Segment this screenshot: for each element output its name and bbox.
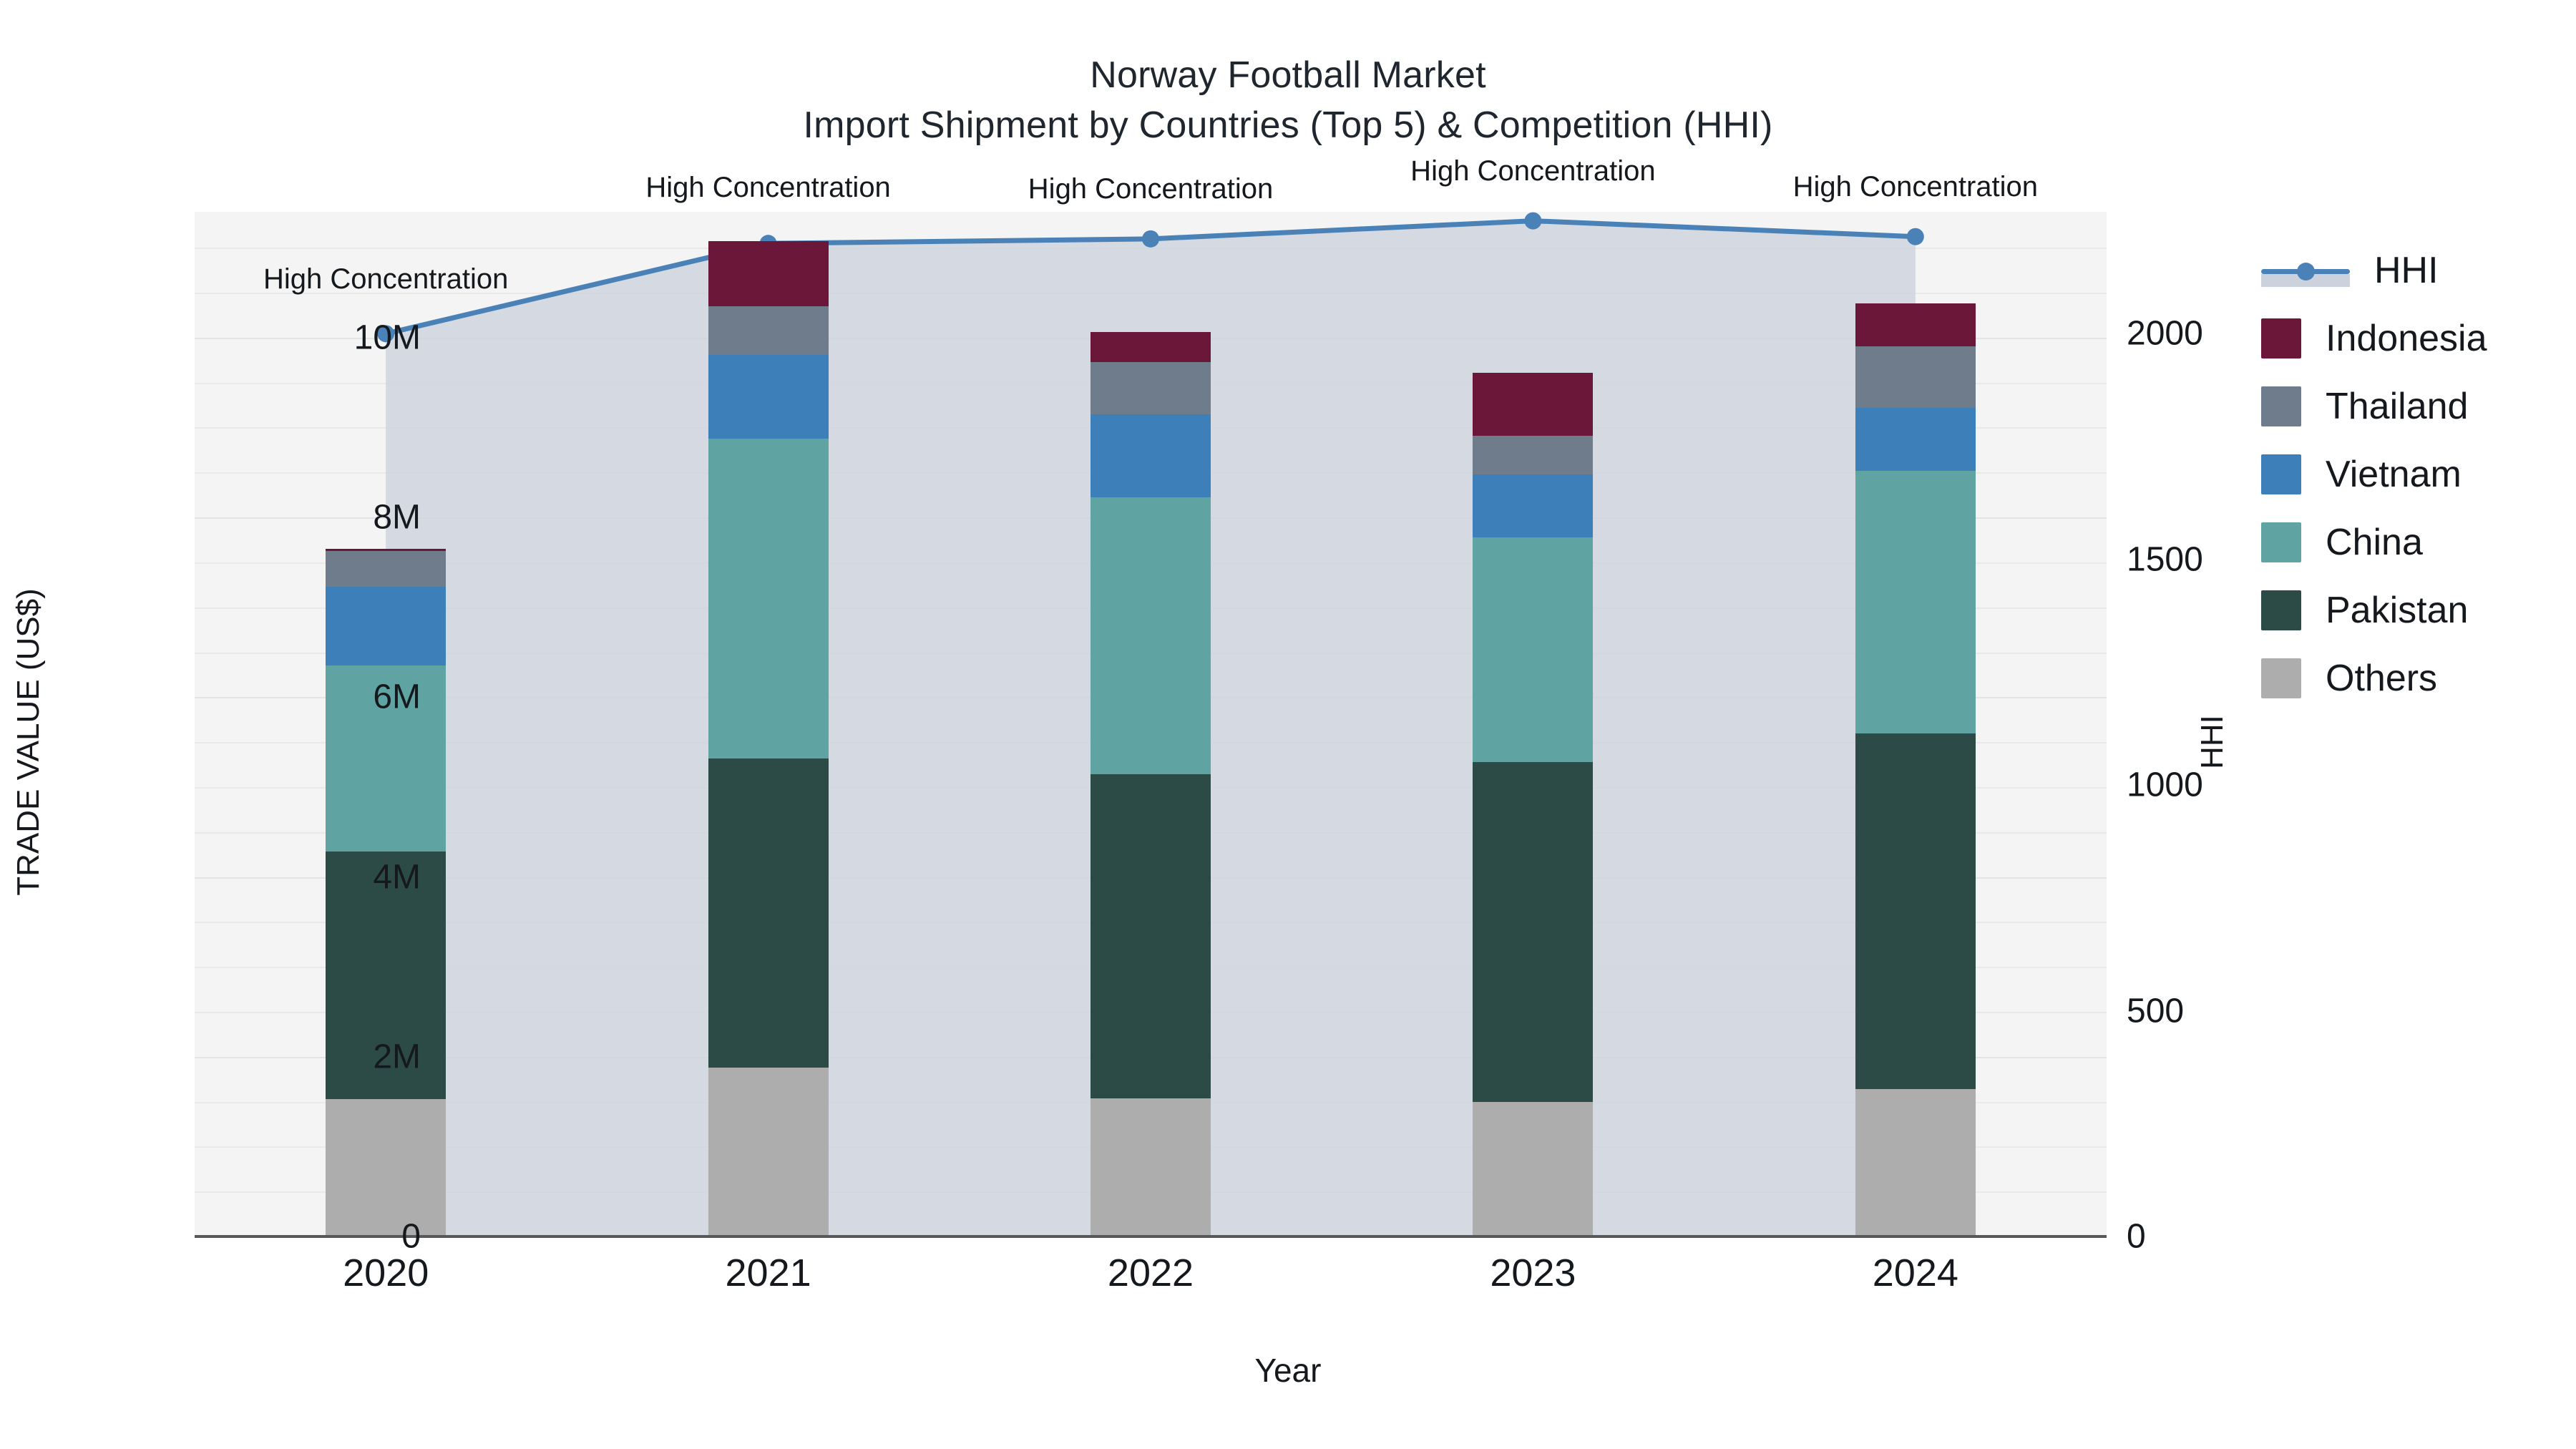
bar-segment-pakistan-2022[interactable]: [1091, 774, 1211, 1098]
chart-subtitle: Import Shipment by Countries (Top 5) & C…: [0, 100, 2576, 150]
legend-line-marker-icon: [2261, 250, 2350, 291]
bar-segment-pakistan-2024[interactable]: [1855, 733, 1976, 1089]
legend-dot-icon: [2297, 263, 2315, 280]
annotation-high-concentration-2021: High Concentration: [645, 172, 890, 204]
bar-segment-indonesia-2022[interactable]: [1091, 332, 1211, 361]
legend-item-hhi[interactable]: HHI: [2261, 236, 2576, 304]
legend-item-pakistan[interactable]: Pakistan: [2261, 576, 2576, 644]
legend-item-thailand[interactable]: Thailand: [2261, 372, 2576, 440]
legend-item-china[interactable]: China: [2261, 508, 2576, 576]
y-axis-left-label: TRADE VALUE (US$): [11, 313, 47, 1171]
y-tick-right-1000: 1000: [2127, 766, 2341, 805]
y-tick-left-2M: 2M: [235, 1037, 421, 1076]
bar-2021[interactable]: [708, 212, 829, 1236]
legend-label-indonesia: Indonesia: [2326, 317, 2487, 360]
legend: HHIIndonesiaThailandVietnamChinaPakistan…: [2261, 236, 2576, 712]
chart-title: Norway Football Market Import Shipment b…: [0, 50, 2576, 150]
chart-title-line1: Norway Football Market: [1090, 54, 1485, 96]
y-tick-right-500: 500: [2127, 991, 2341, 1030]
annotation-high-concentration-2023: High Concentration: [1410, 155, 1655, 187]
plot-area: High ConcentrationHigh ConcentrationHigh…: [195, 212, 2107, 1236]
bar-segment-vietnam-2024[interactable]: [1855, 408, 1976, 471]
annotation-high-concentration-2022: High Concentration: [1028, 173, 1273, 205]
bar-segment-others-2024[interactable]: [1855, 1089, 1976, 1236]
bar-segment-vietnam-2020[interactable]: [326, 587, 446, 666]
bar-segment-indonesia-2020[interactable]: [326, 549, 446, 551]
bar-segment-indonesia-2023[interactable]: [1473, 373, 1593, 436]
x-axis-label: Year: [0, 1351, 2576, 1390]
x-tick-2024[interactable]: 2024: [1772, 1251, 2059, 1295]
bar-segment-indonesia-2024[interactable]: [1855, 303, 1976, 346]
legend-swatch-vietnam: [2261, 454, 2301, 494]
bar-segment-thailand-2023[interactable]: [1473, 436, 1593, 474]
legend-label-thailand: Thailand: [2326, 385, 2468, 428]
legend-item-others[interactable]: Others: [2261, 644, 2576, 712]
bar-2024[interactable]: [1855, 212, 1976, 1236]
x-tick-2020[interactable]: 2020: [243, 1251, 529, 1295]
bar-segment-others-2023[interactable]: [1473, 1102, 1593, 1236]
legend-swatch-china: [2261, 522, 2301, 562]
bar-segment-pakistan-2023[interactable]: [1473, 762, 1593, 1102]
y-tick-left-8M: 8M: [235, 498, 421, 537]
x-tick-2023[interactable]: 2023: [1390, 1251, 1676, 1295]
x-tick-2022[interactable]: 2022: [1008, 1251, 1294, 1295]
legend-label-hhi: HHI: [2374, 249, 2439, 292]
bar-2022[interactable]: [1091, 212, 1211, 1236]
legend-item-indonesia[interactable]: Indonesia: [2261, 304, 2576, 372]
legend-label-vietnam: Vietnam: [2326, 453, 2462, 496]
bar-2020[interactable]: [326, 212, 446, 1236]
legend-swatch-indonesia: [2261, 318, 2301, 358]
y-axis-right-label: HHI: [2195, 527, 2230, 957]
bar-segment-china-2021[interactable]: [708, 439, 829, 758]
x-tick-2021[interactable]: 2021: [625, 1251, 912, 1295]
bar-segment-vietnam-2022[interactable]: [1091, 414, 1211, 498]
bar-segment-thailand-2020[interactable]: [326, 551, 446, 587]
bar-segment-others-2020[interactable]: [326, 1099, 446, 1236]
bar-segment-vietnam-2021[interactable]: [708, 355, 829, 439]
bar-segment-thailand-2022[interactable]: [1091, 362, 1211, 414]
bar-segment-others-2022[interactable]: [1091, 1098, 1211, 1236]
bar-segment-pakistan-2021[interactable]: [708, 758, 829, 1068]
y-tick-left-10M: 10M: [235, 318, 421, 357]
legend-label-china: China: [2326, 521, 2423, 564]
y-tick-right-0: 0: [2127, 1217, 2341, 1257]
bar-segment-vietnam-2023[interactable]: [1473, 474, 1593, 537]
bar-segment-thailand-2021[interactable]: [708, 306, 829, 355]
bar-segment-china-2022[interactable]: [1091, 497, 1211, 774]
legend-item-vietnam[interactable]: Vietnam: [2261, 440, 2576, 508]
y-tick-left-6M: 6M: [235, 678, 421, 717]
y-tick-left-4M: 4M: [235, 857, 421, 897]
annotation-high-concentration-2020: High Concentration: [263, 263, 508, 296]
legend-label-others: Others: [2326, 657, 2437, 700]
legend-swatch-thailand: [2261, 386, 2301, 426]
legend-swatch-pakistan: [2261, 590, 2301, 630]
bar-segment-indonesia-2021[interactable]: [708, 241, 829, 306]
annotation-high-concentration-2024: High Concentration: [1793, 171, 2038, 203]
x-axis-line: [195, 1235, 2107, 1238]
legend-swatch-others: [2261, 658, 2301, 698]
bar-segment-thailand-2024[interactable]: [1855, 346, 1976, 407]
bar-segment-china-2023[interactable]: [1473, 537, 1593, 762]
bar-segment-china-2024[interactable]: [1855, 471, 1976, 733]
legend-label-pakistan: Pakistan: [2326, 589, 2468, 632]
bar-segment-others-2021[interactable]: [708, 1068, 829, 1236]
bar-2023[interactable]: [1473, 212, 1593, 1236]
chart-root: Norway Football Market Import Shipment b…: [0, 0, 2576, 1449]
